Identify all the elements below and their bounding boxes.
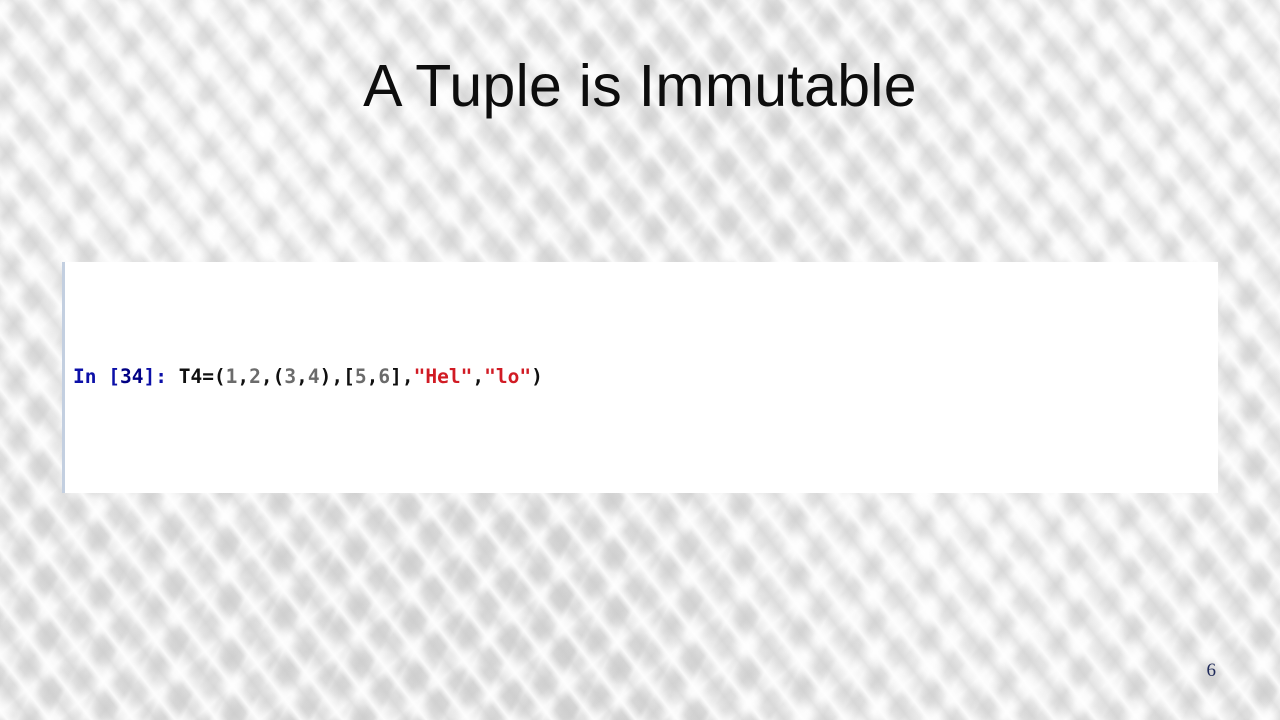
ipython-console-output: In [34]: T4=(1,2,(3,4),[5,6],"Hel","lo")…: [62, 262, 1218, 493]
comma-6: ,: [402, 365, 414, 388]
literal-5: 5: [355, 365, 367, 388]
variable-name: T4: [179, 365, 202, 388]
console-line-input-34: In [34]: T4=(1,2,(3,4),[5,6],"Hel","lo"): [73, 365, 1218, 389]
prompt-number: 34: [120, 365, 143, 388]
literal-1: 1: [226, 365, 238, 388]
tuple-close-paren: ): [531, 365, 543, 388]
comma-3: ,: [296, 365, 308, 388]
list-close-bracket: ]: [390, 365, 402, 388]
page-title: A Tuple is Immutable: [0, 52, 1280, 120]
comma-7: ,: [472, 365, 484, 388]
console-blank-line: [73, 459, 1218, 483]
prompt-open-bracket: [: [108, 365, 120, 388]
assign-open-paren: =(: [202, 365, 225, 388]
comma-5: ,: [367, 365, 379, 388]
comma-4: ,: [331, 365, 343, 388]
literal-2: 2: [249, 365, 261, 388]
literal-4: 4: [308, 365, 320, 388]
slide-page-number: 6: [1207, 660, 1217, 682]
list-open-bracket: [: [343, 365, 355, 388]
prompt-label: In: [73, 365, 96, 388]
string-literal-lo: "lo": [484, 365, 531, 388]
inner-close-paren: ): [320, 365, 332, 388]
literal-6: 6: [378, 365, 390, 388]
comma-2: ,: [261, 365, 273, 388]
prompt-close-bracket: ]:: [143, 365, 166, 388]
string-literal-hel: "Hel": [414, 365, 473, 388]
inner-open-paren: (: [273, 365, 285, 388]
comma-1: ,: [237, 365, 249, 388]
literal-3: 3: [284, 365, 296, 388]
